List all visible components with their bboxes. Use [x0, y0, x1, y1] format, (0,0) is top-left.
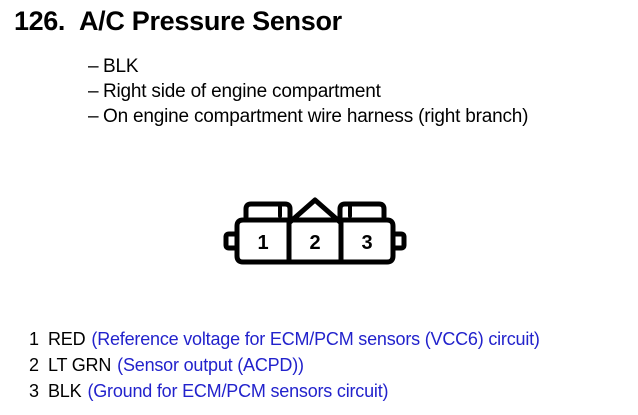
connector-pin-2: 2	[309, 232, 320, 254]
legend-wire-color: RED	[48, 326, 85, 352]
dash-icon: –	[88, 79, 103, 104]
dash-icon: –	[88, 54, 103, 79]
legend-description: (Ground for ECM/PCM sensors circuit)	[87, 378, 388, 404]
legend-description: (Reference voltage for ECM/PCM sensors (…	[91, 326, 539, 352]
connector-diagram: 1 2 3	[222, 192, 408, 274]
section-title: A/C Pressure Sensor	[79, 6, 342, 37]
legend-pin-number: 1	[29, 326, 48, 352]
page-title: 126. A/C Pressure Sensor	[14, 6, 342, 37]
legend-pin-number: 2	[29, 352, 48, 378]
list-item-label: Right side of engine compartment	[103, 79, 381, 104]
list-item: – On engine compartment wire harness (ri…	[88, 104, 528, 129]
connector-pin-3: 3	[361, 232, 372, 254]
legend-description: (Sensor output (ACPD))	[117, 352, 304, 378]
list-item-label: On engine compartment wire harness (righ…	[103, 104, 528, 129]
list-item: – Right side of engine compartment	[88, 79, 528, 104]
list-item: – BLK	[88, 54, 528, 79]
legend-wire-color: BLK	[48, 378, 81, 404]
section-number: 126.	[14, 6, 65, 37]
legend-pin-number: 3	[29, 378, 48, 404]
legend-wire-color: LT GRN	[48, 352, 111, 378]
dash-icon: –	[88, 104, 103, 129]
left-latch-tab	[246, 204, 290, 217]
manual-page: 126. A/C Pressure Sensor – BLK – Right s…	[0, 0, 638, 415]
pin-legend: 1 RED (Reference voltage for ECM/PCM sen…	[29, 326, 540, 404]
legend-row: 3 BLK (Ground for ECM/PCM sensors circui…	[29, 378, 540, 404]
connector-pin-1: 1	[257, 232, 268, 254]
list-item-label: BLK	[103, 54, 138, 79]
right-latch-tab	[340, 204, 384, 217]
notes-list: – BLK – Right side of engine compartment…	[88, 54, 528, 129]
legend-row: 1 RED (Reference voltage for ECM/PCM sen…	[29, 326, 540, 352]
legend-row: 2 LT GRN (Sensor output (ACPD))	[29, 352, 540, 378]
